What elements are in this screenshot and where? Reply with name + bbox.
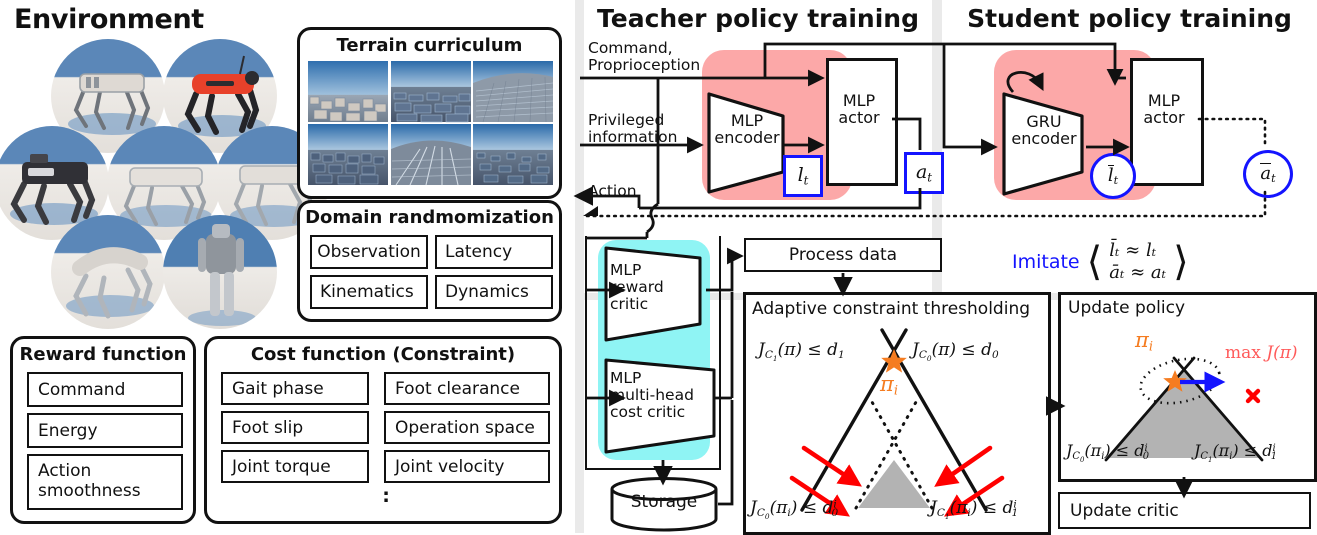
constraint-label-bottom-right: JC1(πi) ≤ di1 — [930, 498, 1018, 521]
domain-randomization-card: Domain randmomization Observation Latenc… — [297, 200, 562, 322]
pi-index: i — [1149, 340, 1153, 355]
arg: (π — [1212, 441, 1229, 460]
max-objective-cross-icon — [1248, 391, 1258, 401]
cost-function-title: Cost function (Constraint) — [207, 344, 559, 365]
relation: ≤ — [1244, 441, 1257, 460]
C-symbol: C — [937, 507, 945, 519]
domain-item-label: Observation — [317, 242, 421, 262]
teacher-input-command-line1: Command, — [588, 40, 700, 57]
domain-item-observation[interactable]: Observation — [310, 235, 428, 269]
cost-item-joint-velocity[interactable]: Joint velocity — [384, 450, 550, 483]
arg-end: ) — [1232, 441, 1238, 460]
teacher-encoder-label-line1: MLP — [708, 112, 786, 129]
relation: ≤ — [961, 340, 975, 360]
update-policy-constraint-left: JC0(πi) ≤ di0 — [1066, 441, 1149, 464]
cost-critic-line2: multi-head — [610, 387, 728, 404]
reward-function-title: Reward function — [13, 344, 193, 365]
teacher-latent-sub: t — [804, 174, 809, 188]
domain-item-label: Latency — [445, 242, 512, 262]
d-index: 0 — [831, 507, 838, 519]
max-keyword: max — [1225, 343, 1261, 363]
environment-panel: Environment — [0, 0, 575, 533]
terrain-tile-grid — [308, 61, 553, 185]
cost-item-gait-phase[interactable]: Gait phase — [221, 372, 369, 405]
C-symbol: C — [765, 349, 773, 361]
cost-item-operation-space[interactable]: Operation space — [384, 411, 550, 444]
teacher-policy-title: Teacher policy training — [597, 4, 919, 33]
reward-critic-line1: MLP — [610, 262, 702, 279]
reward-function-card: Reward function Command Energy Action sm… — [10, 336, 196, 524]
domain-randomization-title: Domain randmomization — [300, 207, 559, 228]
relation: ≤ — [983, 498, 997, 518]
objective-expr: J(π) — [1266, 343, 1297, 363]
teacher-input-privileged-line2: information — [588, 129, 677, 146]
student-action-badge: at — [1243, 150, 1293, 198]
reward-critic-label: MLP reward critic — [604, 262, 702, 313]
teacher-output-action-label: Action — [588, 182, 637, 200]
reward-critic-line3: critic — [610, 296, 702, 313]
panel-divider-left — [575, 0, 584, 533]
teacher-actor-label-line1: MLP — [826, 92, 892, 109]
J-symbol: J — [750, 498, 757, 518]
teacher-encoder-label-line2: encoder — [708, 129, 786, 146]
reward-item-label: Energy — [38, 421, 98, 441]
teacher-action-symbol: a — [916, 161, 927, 183]
constraint-label-top-right: JC0(π) ≤ d0 — [912, 340, 999, 363]
cost-item-label: Foot clearance — [395, 379, 520, 399]
cost-item-foot-slip[interactable]: Foot slip — [221, 411, 369, 444]
domain-item-label: Dynamics — [445, 282, 529, 302]
teacher-actor-label: MLP actor — [826, 92, 892, 127]
update-critic-box[interactable]: Update critic — [1058, 492, 1311, 529]
arg: (π) — [932, 340, 956, 360]
storage-label: Storage — [608, 492, 720, 512]
robot-image-7 — [163, 215, 277, 329]
student-action-sub: t — [1271, 172, 1275, 185]
domain-item-dynamics[interactable]: Dynamics — [435, 275, 553, 309]
cost-item-label: Foot slip — [232, 418, 303, 438]
cost-function-card: Cost function (Constraint) Gait phase Fo… — [204, 336, 562, 524]
robot-image-6 — [51, 215, 165, 329]
student-encoder-label: GRU encoder — [1002, 113, 1086, 148]
student-policy-title: Student policy training — [967, 4, 1292, 33]
terrain-tile-2 — [391, 61, 471, 122]
cost-item-label: Joint velocity — [395, 457, 504, 477]
imitate-condition-action: āₜ ≈ aₜ — [1109, 262, 1166, 284]
reward-item-command[interactable]: Command — [27, 372, 183, 407]
cost-item-label: Joint torque — [232, 457, 331, 477]
process-data-label: Process data — [789, 245, 897, 265]
d-symbol: d — [981, 340, 992, 360]
teacher-encoder-label: MLP encoder — [708, 112, 786, 147]
terrain-tile-1 — [308, 61, 388, 122]
imitate-brace-open: ⟨ — [1087, 248, 1103, 277]
imitate-condition-latent: l̄ₜ ≈ lₜ — [1109, 240, 1166, 262]
student-latent-badge: lt — [1090, 153, 1136, 199]
student-actor-label: MLP actor — [1130, 92, 1198, 127]
J-symbol: J — [912, 340, 919, 360]
student-encoder-label-line2: encoder — [1002, 130, 1086, 147]
imitate-brace-close: ⟩ — [1173, 248, 1189, 277]
terrain-curriculum-card: Terrain curriculum — [297, 27, 562, 199]
reward-item-label: Action smoothness — [38, 462, 141, 501]
cost-item-joint-torque[interactable]: Joint torque — [221, 450, 369, 483]
student-encoder-label-line1: GRU — [1002, 113, 1086, 130]
arg: (π) — [778, 340, 802, 360]
d-index: 0 — [1143, 451, 1149, 462]
teacher-action-sub: t — [927, 171, 932, 185]
imitate-annotation: Imitate ⟨ l̄ₜ ≈ lₜ āₜ ≈ aₜ ⟩ — [1012, 240, 1189, 284]
relation: ≤ — [1116, 441, 1129, 460]
terrain-tile-6 — [473, 124, 553, 185]
terrain-curriculum-title: Terrain curriculum — [300, 35, 559, 56]
cost-item-foot-clearance[interactable]: Foot clearance — [384, 372, 550, 405]
J-symbol: J — [758, 340, 765, 360]
reward-item-action-smoothness[interactable]: Action smoothness — [27, 454, 183, 510]
process-data-box[interactable]: Process data — [744, 238, 942, 272]
student-actor-label-line2: actor — [1130, 109, 1198, 126]
teacher-input-command-line2: Proprioception — [588, 57, 700, 74]
terrain-tile-5 — [391, 124, 471, 185]
teacher-action-badge: at — [904, 152, 944, 194]
terrain-tile-3 — [473, 61, 553, 122]
terrain-tile-4 — [308, 124, 388, 185]
update-critic-label: Update critic — [1070, 501, 1179, 521]
C-symbol: C — [1200, 451, 1208, 462]
policy-label-act: πi — [880, 372, 898, 399]
C-symbol: C — [1072, 451, 1080, 462]
robot-gallery — [0, 38, 290, 328]
arg-end: ) — [971, 498, 978, 518]
constraint-label-bottom-left: JC0(πi) ≤ di0 — [750, 498, 838, 521]
imitate-label: Imitate — [1012, 251, 1080, 273]
cost-critic-line1: MLP — [610, 370, 728, 387]
update-policy-constraint-right: JC1(πi) ≤ di1 — [1194, 441, 1277, 464]
pi-symbol: π — [1135, 328, 1149, 352]
teacher-input-privileged-line1: Privileged — [588, 112, 677, 129]
C-symbol: C — [919, 349, 927, 361]
domain-item-latency[interactable]: Latency — [435, 235, 553, 269]
relation: ≤ — [807, 340, 821, 360]
cost-item-label: Gait phase — [232, 379, 324, 399]
arg: (π — [770, 498, 788, 518]
d-index: 0 — [992, 349, 999, 361]
relation: ≤ — [803, 498, 817, 518]
teacher-actor-label-line2: actor — [826, 109, 892, 126]
reward-item-label: Command — [38, 380, 125, 400]
student-actor-label-line1: MLP — [1130, 92, 1198, 109]
adaptive-thresholding-title: Adaptive constraint thresholding — [752, 299, 1030, 319]
update-policy-title: Update policy — [1068, 298, 1185, 318]
cost-critic-label: MLP multi-head cost critic — [604, 370, 728, 421]
pi-symbol: π — [880, 372, 894, 396]
teacher-latent-badge: lt — [783, 155, 823, 197]
reward-item-energy[interactable]: Energy — [27, 413, 183, 448]
J-symbol: J — [930, 498, 937, 518]
arg-end: ) — [1104, 441, 1110, 460]
arg-end: ) — [791, 498, 798, 518]
page-title: Environment — [14, 4, 204, 35]
pi-index: i — [894, 384, 898, 399]
student-action-symbol: a — [1260, 163, 1271, 183]
constraint-label-top-left: JC1(π) ≤ d1 — [758, 340, 845, 363]
d-index: 1 — [1271, 451, 1277, 462]
cost-function-ellipsis: : — [207, 485, 565, 507]
teacher-input-privileged-label: Privileged information — [588, 112, 677, 147]
student-latent-sub: t — [1114, 174, 1118, 187]
cost-critic-line3: cost critic — [610, 404, 728, 421]
teacher-input-command-label: Command, Proprioception — [588, 40, 700, 75]
C-symbol: C — [757, 507, 765, 519]
arg: (π — [950, 498, 968, 518]
domain-item-kinematics[interactable]: Kinematics — [310, 275, 428, 309]
d-symbol: d — [827, 340, 838, 360]
cost-item-label: Operation space — [395, 418, 535, 438]
policy-label-update: πi — [1135, 328, 1153, 355]
d-index: 1 — [838, 349, 845, 361]
domain-item-label: Kinematics — [320, 282, 414, 302]
reward-critic-line2: reward — [610, 279, 702, 296]
d-index: 1 — [1011, 507, 1018, 519]
max-objective-label: max J(π) — [1225, 343, 1298, 363]
arg: (π — [1084, 441, 1101, 460]
